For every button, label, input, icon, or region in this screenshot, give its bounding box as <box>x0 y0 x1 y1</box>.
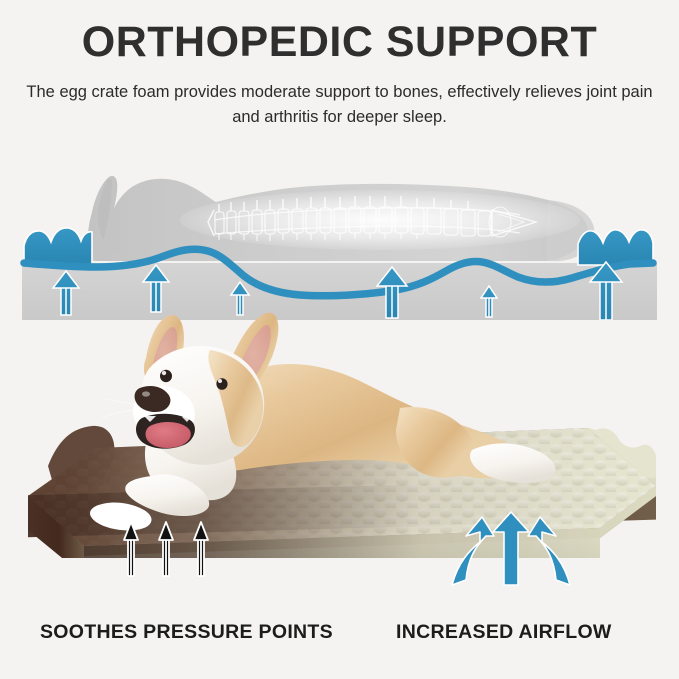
dog-eye-left <box>160 370 172 382</box>
orthopedic-support-diagram <box>0 140 679 320</box>
caption-increased-airflow: INCREASED AIRFLOW <box>396 621 612 644</box>
page-subtitle: The egg crate foam provides moderate sup… <box>14 80 665 130</box>
eggcrate-peaks-left <box>24 228 92 265</box>
product-photo-composite <box>0 300 679 590</box>
product-feature-infographic: ORTHOPEDIC SUPPORT The egg crate foam pr… <box>0 0 679 679</box>
dog-eye-right <box>216 378 227 390</box>
caption-soothes-pressure-points: SOOTHES PRESSURE POINTS <box>40 621 333 644</box>
page-title: ORTHOPEDIC SUPPORT <box>0 18 679 67</box>
spine-glow <box>180 190 580 250</box>
